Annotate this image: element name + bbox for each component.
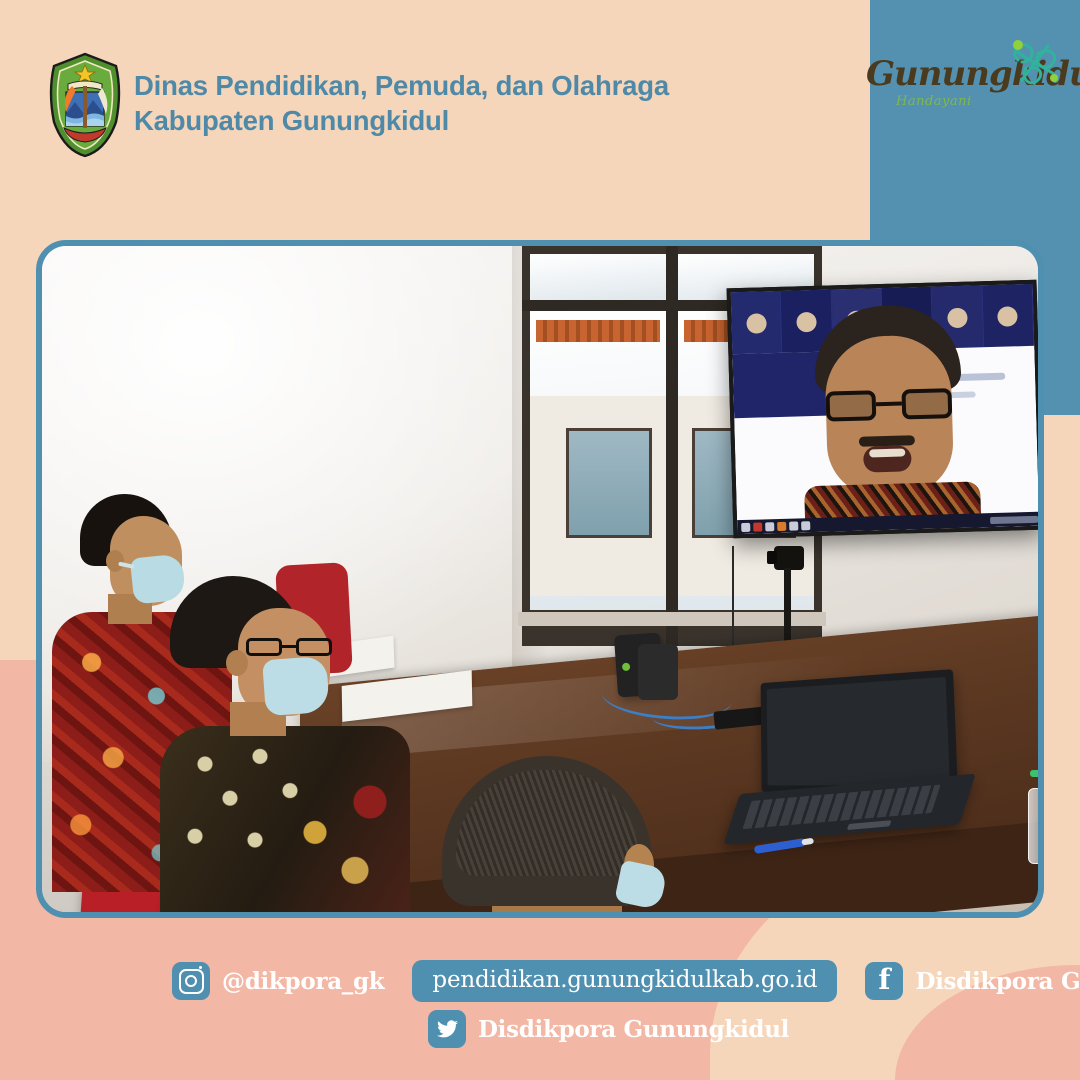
poster-canvas: Dinas Pendidikan, Pemuda, dan Olahraga K…	[0, 0, 1080, 1080]
gunungkidul-brand-logo: Gunungkidul Handayani	[866, 48, 1071, 120]
instagram-icon[interactable]	[172, 962, 210, 1000]
outside-window-1	[566, 428, 652, 538]
face-mask	[262, 656, 330, 716]
org-title-line1: Dinas Pendidikan, Pemuda, dan Olahraga	[134, 70, 669, 101]
meeting-room-photo	[42, 246, 1038, 912]
eyeglasses-icon	[246, 638, 332, 656]
social-media-footer: @dikpora_gk pendidikan.gunungkidulkab.go…	[0, 945, 1080, 1065]
gunungkidul-regency-emblem	[44, 52, 126, 158]
speaker-glasses-icon	[826, 388, 953, 422]
roof-tiles-left	[536, 320, 660, 342]
twitter-icon[interactable]	[428, 1010, 466, 1048]
website-url-button[interactable]: pendidikan.gunungkidulkab.go.id	[412, 960, 837, 1002]
window-pane-top-left	[530, 254, 666, 300]
tv-screen	[731, 284, 1038, 534]
video-speaker-portrait	[798, 303, 984, 518]
footer-row-primary: @dikpora_gk pendidikan.gunungkidulkab.go…	[172, 960, 1080, 1002]
sanitizer-nozzle	[1030, 770, 1038, 777]
hand-sanitizer-bottle	[1028, 762, 1038, 862]
twitter-bird-glyph	[436, 1020, 459, 1039]
footer-row-secondary: Disdikpora Gunungkidul	[428, 1010, 789, 1048]
laptop-touchpad	[847, 820, 892, 830]
page-title: Dinas Pendidikan, Pemuda, dan Olahraga K…	[134, 68, 754, 138]
attendee-ear	[106, 550, 124, 572]
org-title-line2: Kabupaten Gunungkidul	[134, 103, 754, 138]
brand-flourish-icon	[1004, 34, 1064, 90]
speaker-mouth	[863, 445, 912, 472]
tripod-column	[784, 568, 791, 650]
twitter-handle[interactable]: Disdikpora Gunungkidul	[478, 1016, 789, 1043]
poster-header: Dinas Pendidikan, Pemuda, dan Olahraga K…	[0, 0, 1080, 200]
wall-mounted-tv	[727, 280, 1038, 539]
brand-tagline: Handayani	[896, 94, 972, 109]
photo-frame	[36, 240, 1044, 918]
video-camera	[774, 546, 804, 570]
facebook-page-name[interactable]: Disdikpora Gunungkidul	[915, 968, 1080, 995]
sanitizer-body	[1028, 788, 1038, 864]
attendee-ear	[226, 650, 248, 676]
facebook-icon[interactable]: f	[865, 962, 903, 1000]
instagram-handle[interactable]: @dikpora_gk	[222, 968, 384, 995]
attendee-foreground	[372, 756, 802, 912]
